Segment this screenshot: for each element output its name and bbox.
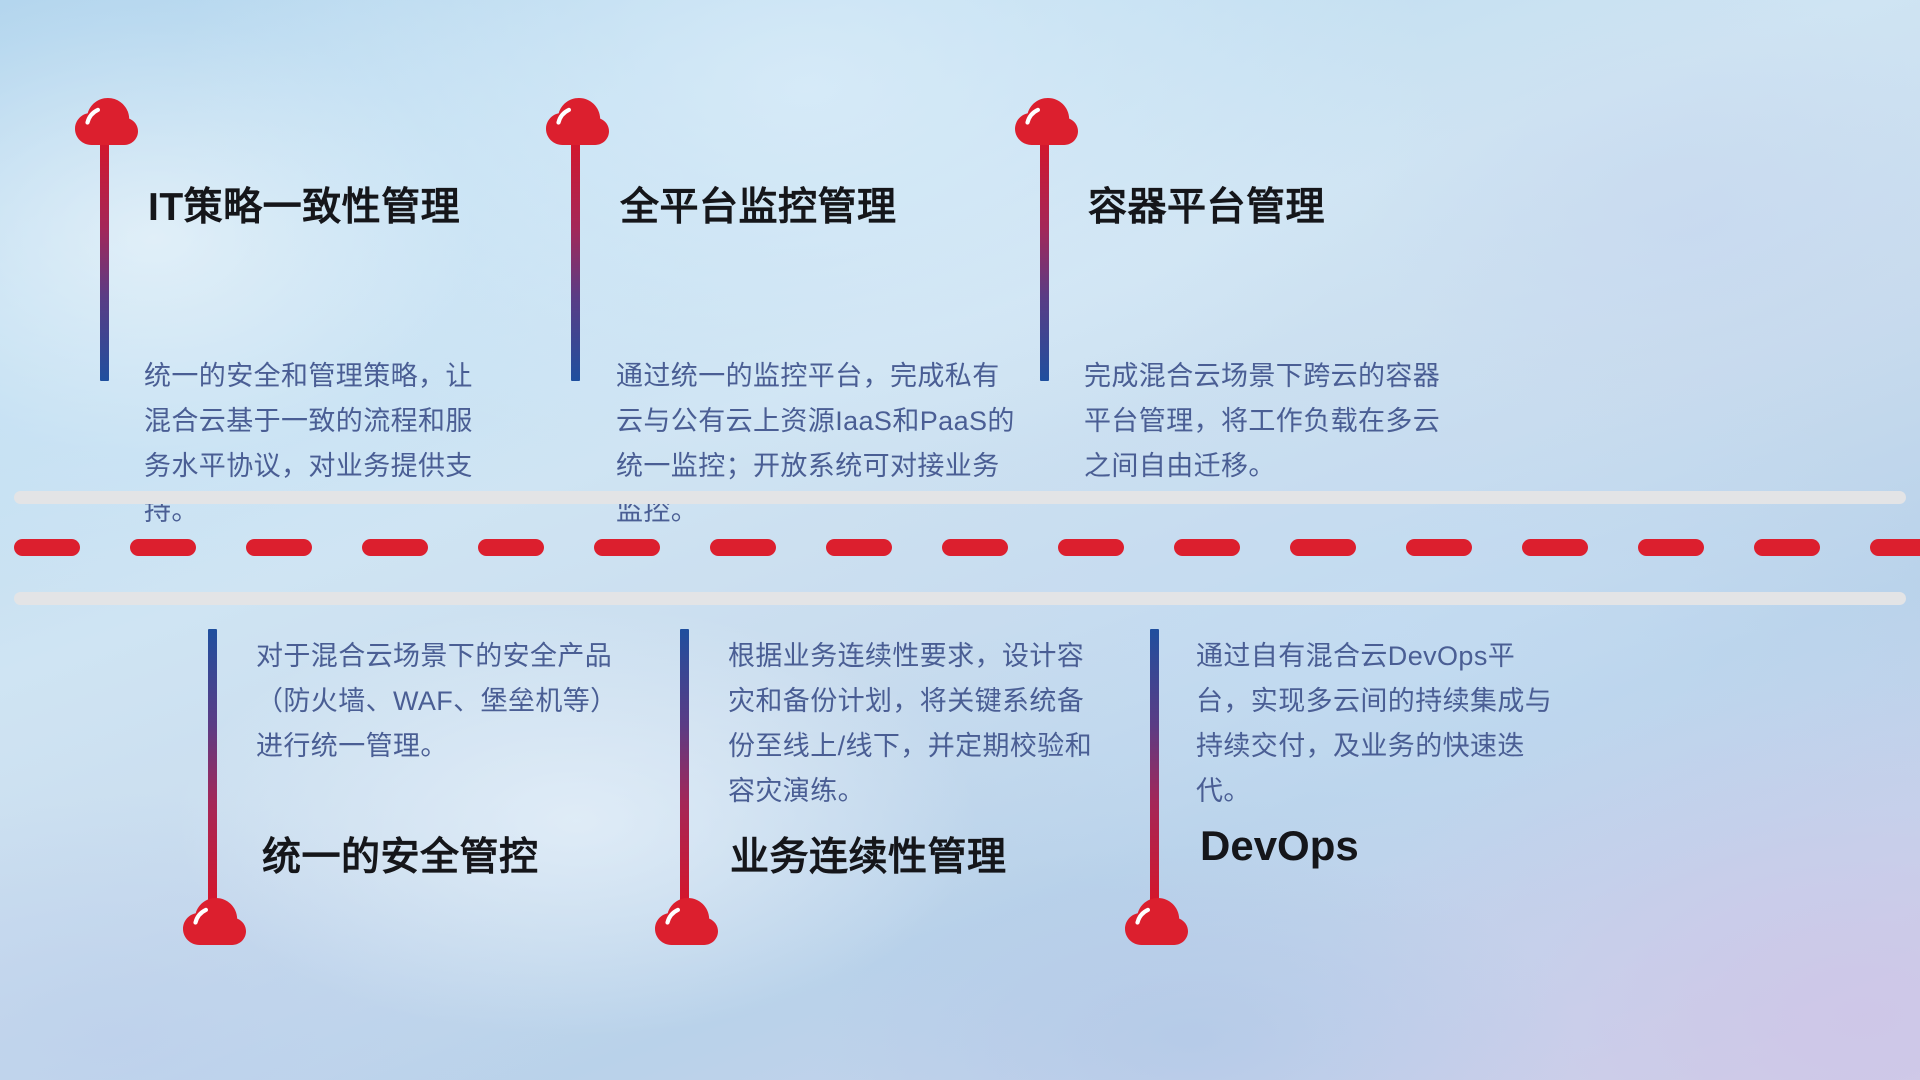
- card-title-bottom-1: 统一的安全管控: [262, 826, 539, 882]
- pin-stem: [680, 629, 689, 909]
- lower-rail: [14, 592, 1906, 605]
- cloud-icon: [653, 895, 719, 947]
- divider-dash: [1638, 539, 1704, 556]
- divider-dash: [1406, 539, 1472, 556]
- divider-dash: [1058, 539, 1124, 556]
- pin-stem: [100, 133, 109, 381]
- pin-stem: [208, 629, 217, 909]
- pin-marker-bottom-3: [1150, 629, 1159, 909]
- divider-dash: [246, 539, 312, 556]
- divider-dash: [130, 539, 196, 556]
- divider-dash: [14, 539, 80, 556]
- pin-marker-bottom-1: [208, 629, 217, 909]
- card-title-bottom-2: 业务连续性管理: [730, 826, 1007, 882]
- pin-stem: [1040, 133, 1049, 381]
- cloud-icon: [1013, 95, 1079, 147]
- cloud-icon: [1123, 895, 1189, 947]
- card-title-top-3: 容器平台管理: [1088, 176, 1325, 232]
- cloud-icon: [181, 895, 247, 947]
- upper-rail: [14, 491, 1906, 504]
- divider-dash: [594, 539, 660, 556]
- infographic-stage: IT策略一致性管理 统一的安全和管理策略，让混合云基于一致的流程和服务水平协议，…: [0, 0, 1920, 1080]
- divider-dash: [826, 539, 892, 556]
- pin-marker-top-1: [100, 133, 109, 381]
- card-title-bottom-3: DevOps: [1200, 822, 1359, 870]
- pin-marker-bottom-2: [680, 629, 689, 909]
- divider-dash: [1174, 539, 1240, 556]
- divider-dash: [1522, 539, 1588, 556]
- pin-stem: [1150, 629, 1159, 909]
- card-desc-top-3: 完成混合云场景下跨云的容器平台管理，将工作负载在多云之间自由迁移。: [1084, 354, 1452, 489]
- cloud-icon: [544, 95, 610, 147]
- card-desc-top-2: 通过统一的监控平台，完成私有云与公有云上资源IaaS和PaaS的统一监控；开放系…: [616, 354, 1016, 534]
- divider-dash: [942, 539, 1008, 556]
- card-desc-bottom-3: 通过自有混合云DevOps平台，实现多云间的持续集成与持续交付，及业务的快速迭代…: [1196, 634, 1568, 814]
- card-desc-top-1: 统一的安全和管理策略，让混合云基于一致的流程和服务水平协议，对业务提供支持。: [144, 354, 496, 534]
- divider-dash: [1870, 539, 1920, 556]
- card-title-top-2: 全平台监控管理: [620, 176, 897, 232]
- pin-marker-top-2: [571, 133, 580, 381]
- divider-dash: [1290, 539, 1356, 556]
- dashed-divider: [0, 539, 1920, 556]
- pin-marker-top-3: [1040, 133, 1049, 381]
- card-title-top-1: IT策略一致性管理: [148, 176, 460, 232]
- divider-dash: [1754, 539, 1820, 556]
- cloud-icon: [73, 95, 139, 147]
- card-desc-bottom-2: 根据业务连续性要求，设计容灾和备份计划，将关键系统备份至线上/线下，并定期校验和…: [728, 634, 1100, 814]
- divider-dash: [478, 539, 544, 556]
- divider-dash: [362, 539, 428, 556]
- card-desc-bottom-1: 对于混合云场景下的安全产品（防火墙、WAF、堡垒机等）进行统一管理。: [256, 634, 628, 769]
- pin-stem: [571, 133, 580, 381]
- divider-dash: [710, 539, 776, 556]
